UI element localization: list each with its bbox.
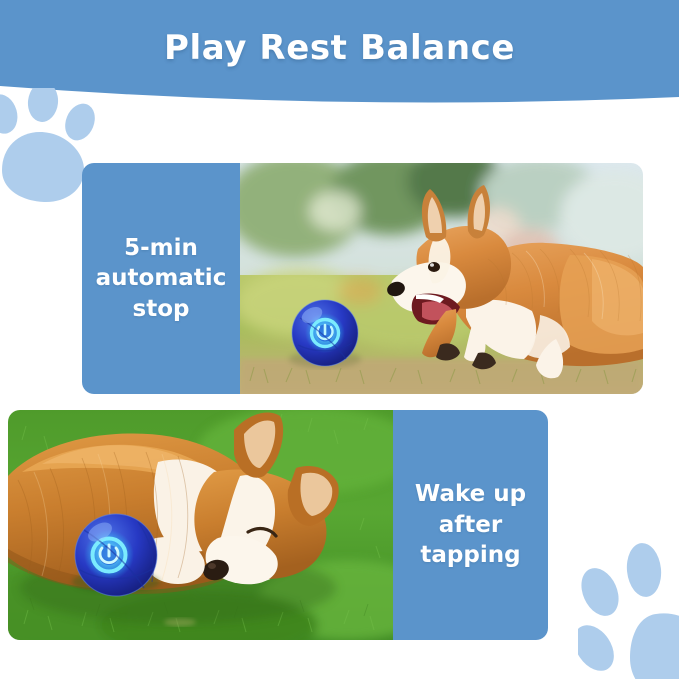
- feature-card-wake-up: Wake up after tapping: [8, 410, 548, 640]
- sleeping-corgi-with-blue-ball-photo: [8, 410, 393, 640]
- caption-line-2: after: [415, 510, 526, 540]
- card-caption: Wake up after tapping: [407, 479, 534, 570]
- sleeping-corgi-illustration: [8, 410, 393, 640]
- card-text-panel: 5-min automatic stop: [82, 163, 240, 394]
- caption-line-3: stop: [96, 294, 227, 324]
- caption-line-1: Wake up: [415, 479, 526, 509]
- running-corgi-with-blue-ball-photo: [240, 163, 643, 394]
- caption-line-1: 5-min: [96, 233, 227, 263]
- paw-print-icon: [578, 540, 679, 679]
- caption-line-2: automatic: [96, 263, 227, 293]
- card-text-panel: Wake up after tapping: [393, 410, 548, 640]
- card-caption: 5-min automatic stop: [88, 233, 235, 324]
- feature-card-auto-stop: 5-min automatic stop: [82, 163, 643, 394]
- header-banner: Play Rest Balance: [0, 0, 679, 110]
- page-title: Play Rest Balance: [0, 28, 679, 68]
- caption-line-3: tapping: [415, 540, 526, 570]
- running-corgi-illustration: [240, 163, 643, 394]
- product-feature-graphic: Play Rest Balance 5-min automatic stop: [0, 0, 679, 679]
